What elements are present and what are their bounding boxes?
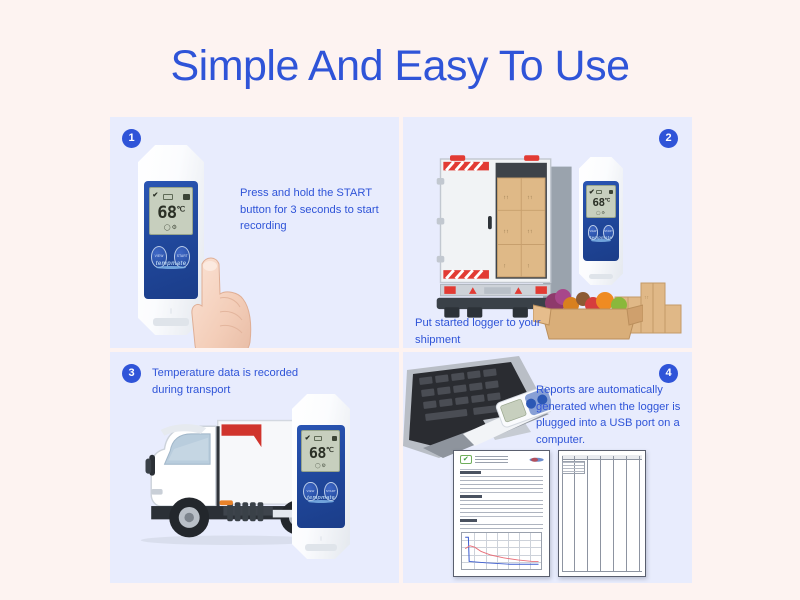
step-number-badge-4: 4 xyxy=(659,364,678,383)
lcd-temperature-reading: 68℃ xyxy=(302,444,339,462)
lcd-status-icons: ◯⚙ xyxy=(587,210,615,215)
report-divider xyxy=(460,469,544,470)
report-section-body xyxy=(460,476,544,490)
device-lcd-screen: ✔ 68℃ ◯⚙ xyxy=(586,185,616,218)
lcd-memory-icon xyxy=(314,436,322,441)
report-section-body xyxy=(460,500,544,514)
step-caption-1: Press and hold the START button for 3 se… xyxy=(240,185,390,235)
device-logo-swoosh xyxy=(308,500,334,503)
lcd-temperature-reading: 68℃ xyxy=(150,203,192,223)
svg-text:↑: ↑ xyxy=(527,263,530,269)
lcd-temperature-unit: ℃ xyxy=(177,204,185,213)
lcd-memory-icon xyxy=(163,194,172,200)
report-section-title xyxy=(460,471,481,474)
step-number-badge-3: 3 xyxy=(122,364,141,383)
lcd-status-icons: ◯⚙ xyxy=(150,224,192,231)
lcd-temperature-value: 68 xyxy=(592,196,604,209)
report-section-body xyxy=(460,524,544,529)
step-panel-3: 3 Temperature data is recorded during tr… xyxy=(110,352,399,583)
lcd-battery-icon xyxy=(183,194,189,200)
report-divider xyxy=(460,516,544,517)
step-number-badge-2: 2 xyxy=(659,129,678,148)
step-caption-3: Temperature data is recorded during tran… xyxy=(152,365,312,398)
chart-series-paths xyxy=(462,533,542,569)
svg-text:↑↑: ↑↑ xyxy=(503,229,509,235)
svg-text:↑: ↑ xyxy=(503,263,506,269)
lcd-checkmark-icon: ✔ xyxy=(589,189,595,196)
device-logo-swoosh xyxy=(591,239,610,242)
page-title: Simple And Easy To Use xyxy=(0,42,800,91)
step-number-badge-1: 1 xyxy=(122,129,141,148)
report-approved-checkmark-icon: ✔ xyxy=(460,455,472,464)
step-caption-2: Put started logger to your shipment xyxy=(415,315,575,348)
lcd-temperature-reading: 68℃ xyxy=(587,196,615,209)
lcd-battery-icon xyxy=(609,190,613,194)
lcd-checkmark-icon: ✔ xyxy=(152,192,158,199)
svg-text:↑↑: ↑↑ xyxy=(527,229,533,235)
lcd-battery-icon xyxy=(332,436,338,441)
report-temperature-chart xyxy=(461,532,543,570)
pointing-hand-illustration xyxy=(180,250,266,348)
laptop-with-usb-logger-illustration xyxy=(403,354,551,462)
spreadsheet-data-cells xyxy=(562,461,584,474)
lcd-temperature-value: 68 xyxy=(309,444,326,462)
data-logger-device-3: ✔ 68℃ ◯⚙ VIEW START tempmate xyxy=(292,394,350,559)
spreadsheet-report-document xyxy=(558,450,646,577)
report-section-title xyxy=(460,519,477,522)
pdf-report-document: ✔ xyxy=(453,450,550,577)
report-header-text xyxy=(475,456,508,464)
report-section-title xyxy=(460,495,483,498)
panel-grid: 1 Press and hold the START button for 3 … xyxy=(110,117,692,583)
step-panel-4: 4 Reports are automatically generated wh… xyxy=(403,352,692,583)
lcd-temperature-unit: ℃ xyxy=(326,446,333,454)
lcd-status-icons: ◯⚙ xyxy=(302,463,339,469)
svg-text:↑↑: ↑↑ xyxy=(503,195,509,201)
device-bottom-slot xyxy=(305,544,337,551)
data-logger-device-2: ✔ 68℃ ◯⚙ VIEW START tempmate xyxy=(579,157,623,285)
report-divider xyxy=(460,492,544,493)
report-logo-icon xyxy=(529,456,544,464)
lcd-temperature-unit: ℃ xyxy=(605,197,610,203)
device-lanyard-hole xyxy=(320,536,322,541)
lcd-checkmark-icon: ✔ xyxy=(305,435,311,442)
device-brand-logo: tempmate xyxy=(583,235,619,242)
lcd-temperature-value: 68 xyxy=(157,203,176,223)
device-lcd-screen: ✔ 68℃ ◯⚙ xyxy=(301,430,340,472)
step-panel-2: 2 Put started logger to your shipment ↑↑… xyxy=(403,117,692,348)
device-brand-logo: tempmate xyxy=(297,495,345,503)
lcd-memory-icon xyxy=(596,190,602,194)
device-front-panel: ✔ 68℃ ◯⚙ VIEW START tempmate xyxy=(583,181,619,260)
step-caption-4: Reports are automatically generated when… xyxy=(536,382,686,448)
svg-text:↑↑: ↑↑ xyxy=(527,195,533,201)
step-panel-1: 1 Press and hold the START button for 3 … xyxy=(110,117,399,348)
svg-text:↑↑: ↑↑ xyxy=(644,295,649,301)
device-lcd-screen: ✔ 68℃ ◯⚙ xyxy=(149,187,193,235)
spreadsheet-bottom-border xyxy=(562,571,643,572)
device-front-panel: ✔ 68℃ ◯⚙ VIEW START tempmate xyxy=(297,425,345,527)
device-bottom-slot xyxy=(589,274,614,279)
